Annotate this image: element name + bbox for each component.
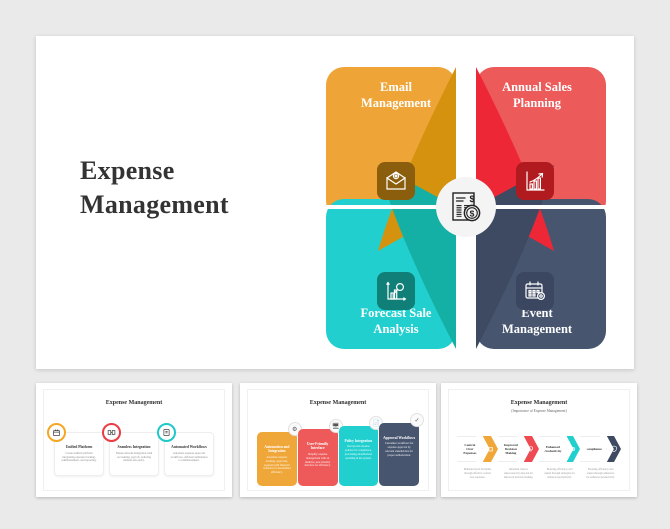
check-icon: ✓ [410, 413, 424, 427]
list-item[interactable]: Compliance [580, 436, 621, 462]
shield-icon [607, 436, 621, 462]
card-body: Ensure smooth integration with accountin… [110, 450, 158, 464]
list-item[interactable]: 🖥 User-Friendly Interface Simplify expen… [298, 429, 338, 486]
list-item[interactable]: Seamless Integration Ensure smooth integ… [109, 432, 159, 476]
thumbnail-slide-2[interactable]: Expense Management ⚙ Automation and Inte… [240, 383, 436, 497]
invoice-dollar-icon: $ $ [448, 189, 484, 225]
list-item[interactable]: Enhanced Productivity [539, 436, 580, 462]
list-item[interactable]: ✓ Approval Workflows Customize workflows… [379, 423, 419, 486]
page-title-line-1: Expense [80, 154, 320, 188]
thumbnail-strip: Expense Management Unified Platform Crea… [0, 383, 670, 503]
svg-text:$: $ [470, 194, 475, 204]
envelope-gear-icon [377, 162, 415, 200]
card-body: Automate expense tracking, approvals, pr… [260, 454, 294, 475]
workflow-icon [157, 423, 176, 442]
growth-chart-icon [516, 162, 554, 200]
card-body: Incorporate expense policies for complia… [342, 443, 376, 460]
list-item[interactable]: Unified Platform Create unified platform… [54, 432, 104, 476]
four-petal-diagram: Email Management Annual Sales Planning F… [318, 61, 614, 353]
page-title-line-2: Management [80, 188, 320, 222]
list-item[interactable]: ⚙ Automation and Integration Automate ex… [257, 432, 297, 486]
list-item[interactable]: Improved Decision Making [498, 436, 539, 462]
card-body: Simplify expense management with an intu… [301, 451, 335, 468]
card-heading: Policy Integration [342, 439, 376, 443]
list-item[interactable]: 📄 Policy Integration Incorporate expense… [339, 426, 379, 486]
gear-icon [567, 436, 580, 462]
card-body: Customize workflows for expense approval… [382, 440, 416, 457]
calendar-gear-icon [516, 272, 554, 310]
bulb-icon [524, 436, 539, 462]
step-body: Informed choices empowered by data-led f… [498, 468, 539, 479]
card-heading: Automation and Integration [260, 445, 294, 454]
thumb-3-step-row: Control Over Expenses Improved Decision … [457, 436, 621, 462]
card-body: Automate expense approval workflows, eff… [165, 450, 213, 464]
step-body: Ensuring efficiency and output through a… [580, 468, 621, 479]
card-heading: User-Friendly Interface [301, 442, 335, 451]
card-body: Create unified platform integrating expe… [55, 450, 103, 464]
list-item[interactable]: Automated Workflows Automate expense app… [164, 432, 214, 476]
chart-magnifier-icon [377, 272, 415, 310]
main-slide[interactable]: Expense Management Email Management Annu… [36, 36, 634, 369]
page-title: Expense Management [80, 154, 320, 223]
step-heading: Control Over Expenses [458, 443, 482, 455]
step-heading: Improved Decision Making [499, 443, 523, 455]
thumb-1-title: Expense Management [44, 400, 224, 406]
wallet-icon [483, 436, 498, 462]
thumb-1-card-row: Unified Platform Create unified platform… [54, 432, 214, 476]
step-heading: Compliance [581, 447, 606, 451]
center-badge: $ $ [436, 177, 496, 237]
list-item[interactable]: Control Over Expenses [457, 436, 498, 462]
thumb-2-title: Expense Management [248, 400, 428, 406]
thumb-2-card-row: ⚙ Automation and Integration Automate ex… [257, 426, 419, 486]
integration-icon [102, 423, 121, 442]
step-body: Boosting efficiency and output through s… [539, 468, 580, 479]
card-heading: Approval Workflows [382, 436, 416, 440]
step-heading: Enhanced Productivity [540, 445, 566, 453]
thumbnail-slide-3[interactable]: Expense Management (Importance of Expens… [441, 383, 637, 497]
svg-text:$: $ [470, 209, 475, 219]
thumb-3-desc-row: Maintain fiscal discipline through effec… [457, 468, 621, 479]
thumb-3-subtitle: (Importance of Expense Management) [449, 409, 629, 413]
thumbnail-slide-1[interactable]: Expense Management Unified Platform Crea… [36, 383, 232, 497]
platform-icon [47, 423, 66, 442]
card-heading: Automated Workflows [165, 445, 213, 450]
step-body: Maintain fiscal discipline through effec… [457, 468, 498, 479]
thumb-3-title: Expense Management [449, 400, 629, 406]
